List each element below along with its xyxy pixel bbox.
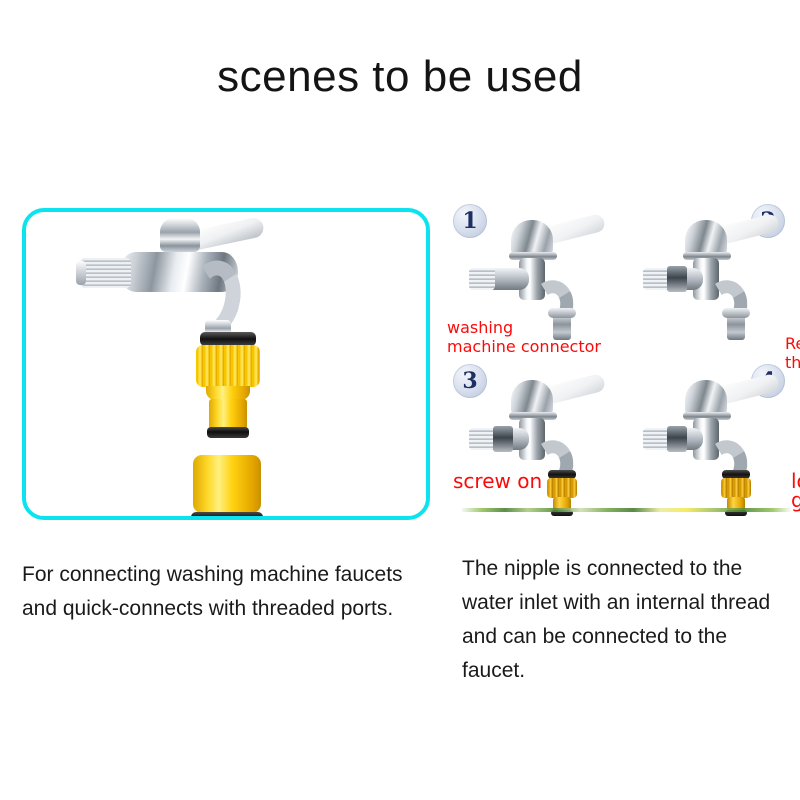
faucet-threaded-inlet <box>469 268 495 290</box>
removed-barb-nut <box>727 314 745 340</box>
faucet-threaded-inlet <box>643 428 669 450</box>
faucet-threaded-inlet <box>469 428 495 450</box>
step-faucet-illustration-1 <box>469 218 601 326</box>
connector-seal-cap <box>200 332 256 346</box>
step-faucet-illustration-4 <box>643 378 775 486</box>
connector-o-ring <box>207 427 249 438</box>
step-faucet-illustration-2 <box>643 218 775 326</box>
step-cell-1: 1 washing machine connector <box>445 200 619 360</box>
page-title: scenes to be used <box>0 48 800 106</box>
step-caption-1: washing machine connector <box>447 318 601 356</box>
faucet-hex-nut <box>493 426 513 452</box>
faucet-cap <box>685 380 727 416</box>
left-description-text: For connecting washing machine faucets a… <box>22 558 440 626</box>
connector-knurled-nut <box>196 345 260 387</box>
coupler-barrel <box>193 455 261 513</box>
installation-steps-panel: 1 washing machine connector 2 Remove th <box>445 200 793 520</box>
step-cell-4: 4 look good <box>619 360 793 520</box>
faucet-hex-nut <box>667 266 687 292</box>
step-caption-3: screw on <box>453 472 542 491</box>
hero-product-panel <box>22 208 430 520</box>
fitting-nut <box>547 478 577 498</box>
step-caption-4: look good <box>791 472 800 510</box>
faucet-cap <box>685 220 727 256</box>
connector-shoulder <box>206 386 250 400</box>
faucet-threaded-inlet <box>80 258 131 288</box>
coupler-o-ring <box>191 512 263 520</box>
faucet-illustration <box>68 216 278 346</box>
decorative-green-divider <box>462 508 792 512</box>
faucet-threaded-inlet <box>643 268 669 290</box>
hero-product-image <box>26 212 426 516</box>
fitting-nut <box>721 478 751 498</box>
right-description-text: The nipple is connected to the water inl… <box>462 552 782 688</box>
connector-stem <box>209 399 247 429</box>
faucet-cap <box>511 380 553 416</box>
step-cell-3: 3 screw on <box>445 360 619 520</box>
faucet-hex-nut <box>667 426 687 452</box>
tap-connector-illustration <box>194 332 260 440</box>
quick-connect-illustration <box>189 455 265 520</box>
step-cell-2: 2 Remove the nut <box>619 200 793 360</box>
faucet-cap <box>511 220 553 256</box>
faucet-handle-hub <box>160 218 200 252</box>
